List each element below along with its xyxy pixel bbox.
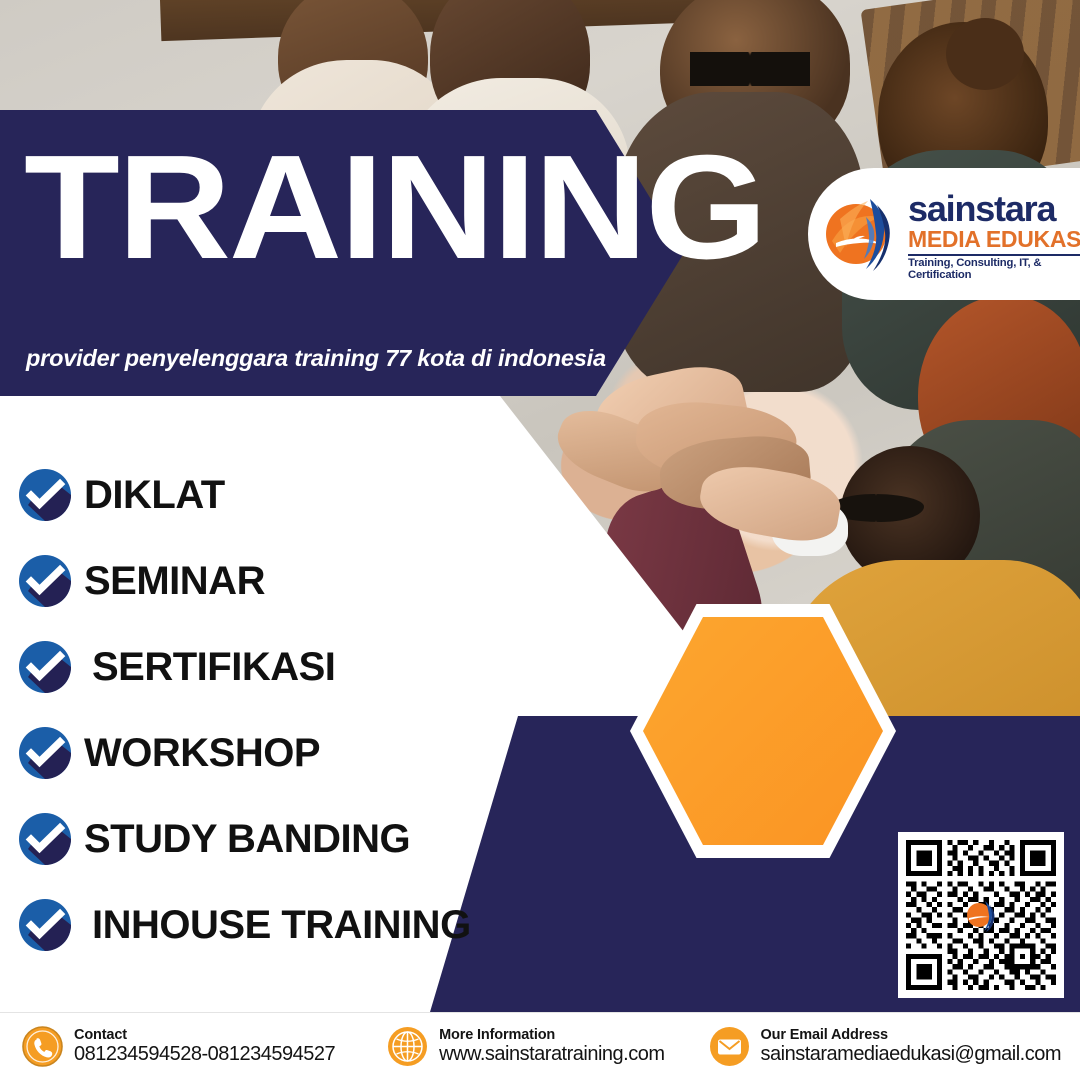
- footer-item-value[interactable]: sainstaramediaedukasi@gmail.com: [761, 1043, 1062, 1065]
- checklist-item-workshop: WORKSHOP: [18, 710, 618, 796]
- footer-email-block[interactable]: Our Email Address sainstaramediaedukasi@…: [709, 1026, 1062, 1067]
- qr-code-matrix: [906, 840, 1056, 990]
- footer-item-title: More Information: [439, 1027, 664, 1043]
- footer-website-text: More Information www.sainstaratraining.c…: [439, 1027, 664, 1066]
- footer-contact-text: Contact 081234594528-081234594527: [74, 1027, 335, 1066]
- phone-icon: [22, 1026, 63, 1067]
- checklist-item-sertifikasi: SERTIFIKASI: [18, 624, 618, 710]
- page-title: TRAINING: [24, 140, 681, 276]
- check-circle-icon: [18, 898, 72, 952]
- checklist-item-label: INHOUSE TRAINING: [92, 903, 471, 948]
- person-4-hair-bun: [946, 18, 1024, 90]
- globe-icon: [387, 1026, 428, 1067]
- check-circle-icon: [18, 726, 72, 780]
- brand-subtitle: MEDIA EDUKASI: [908, 228, 1080, 251]
- training-promo-poster: TRAINING provider penyelenggara training…: [0, 0, 1080, 1080]
- footer-item-value[interactable]: www.sainstaratraining.com: [439, 1043, 664, 1065]
- check-circle-icon: [18, 640, 72, 694]
- checklist-item-inhouse-training: INHOUSE TRAINING: [18, 882, 618, 968]
- check-circle-icon: [18, 554, 72, 608]
- checklist-item-label: WORKSHOP: [84, 731, 320, 776]
- checklist-item-seminar: SEMINAR: [18, 538, 618, 624]
- brand-logo: sainstara MEDIA EDUKASI Training, Consul…: [808, 168, 1080, 300]
- check-circle-icon: [18, 468, 72, 522]
- footer-item-title: Contact: [74, 1027, 335, 1043]
- footer-item-title: Our Email Address: [761, 1027, 1062, 1043]
- checklist-item-label: STUDY BANDING: [84, 817, 410, 862]
- envelope-icon: [709, 1026, 750, 1067]
- orange-hexagon: [630, 604, 896, 858]
- checklist-item-label: DIKLAT: [84, 473, 225, 518]
- checklist-item-study-banding: STUDY BANDING: [18, 796, 618, 882]
- checklist-item-label: SERTIFIKASI: [92, 645, 335, 690]
- brand-services-tagline: Training, Consulting, IT, & Certificatio…: [908, 258, 1080, 281]
- qr-code[interactable]: [898, 832, 1064, 998]
- person-3-glasses: [690, 52, 810, 86]
- tagline: provider penyelenggara training 77 kota …: [26, 345, 626, 372]
- check-circle-icon: [18, 812, 72, 866]
- qr-embedded-logo-icon: [964, 898, 998, 932]
- footer-item-value: 081234594528-081234594527: [74, 1043, 335, 1065]
- checklist-item-label: SEMINAR: [84, 559, 265, 604]
- footer-website-block[interactable]: More Information www.sainstaratraining.c…: [387, 1026, 664, 1067]
- service-checklist: DIKLAT SEMINAR SERTIFIKASI: [18, 452, 618, 968]
- brand-logo-text: sainstara MEDIA EDUKASI Training, Consul…: [908, 187, 1080, 281]
- footer-contact-block: Contact 081234594528-081234594527: [22, 1026, 335, 1067]
- footer-contact-bar: Contact 081234594528-081234594527 More I…: [0, 1012, 1080, 1080]
- checklist-item-diklat: DIKLAT: [18, 452, 618, 538]
- flame-swoosh-logo-icon: [822, 195, 900, 273]
- footer-email-text: Our Email Address sainstaramediaedukasi@…: [761, 1027, 1062, 1066]
- brand-name: sainstara: [908, 191, 1080, 227]
- brand-divider: [908, 254, 1080, 256]
